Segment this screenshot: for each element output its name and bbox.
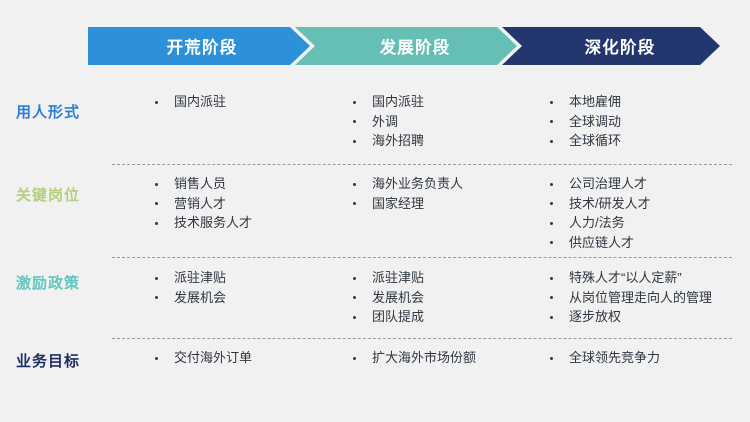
bullet-item: 逐步放权 <box>545 307 750 327</box>
cell-r0c2: 本地雇佣全球调动全球循环 <box>545 92 750 151</box>
bullet-item: 全球领先竞争力 <box>545 348 750 368</box>
bullet-item: 人力/法务 <box>545 213 750 233</box>
cell-r1c0: 销售人员营销人才技术服务人才 <box>150 174 345 233</box>
bullet-item: 全球循环 <box>545 131 750 151</box>
phase-arrow-1-label: 开荒阶段 <box>161 34 238 58</box>
matrix-row-business-goal: 业务目标 交付海外订单 扩大海外市场份额 全球领先竞争力 <box>0 348 750 378</box>
phase-arrow-3[interactable]: 深化阶段 <box>502 27 720 65</box>
bullet-item: 特殊人才“以人定薪” <box>545 268 750 288</box>
bullet-item: 本地雇佣 <box>545 92 750 112</box>
matrix-row-key-positions: 关键岗位 销售人员营销人才技术服务人才 海外业务负责人国家经理 公司治理人才技术… <box>0 174 750 252</box>
cell-r2c1: 派驻津贴发展机会团队提成 <box>348 268 538 327</box>
cell-r2c0: 派驻津贴发展机会 <box>150 268 345 307</box>
bullet-item: 从岗位管理走向人的管理 <box>545 288 750 308</box>
bullet-item: 公司治理人才 <box>545 174 750 194</box>
phase-arrow-1[interactable]: 开荒阶段 <box>88 27 310 65</box>
bullet-item: 扩大海外市场份额 <box>348 348 538 368</box>
bullet-item: 外调 <box>348 112 538 132</box>
bullet-item: 供应链人才 <box>545 233 750 253</box>
bullet-item: 技术服务人才 <box>150 213 345 233</box>
row-2-cells: 派驻津贴发展机会 派驻津贴发展机会团队提成 特殊人才“以人定薪”从岗位管理走向人… <box>0 268 750 330</box>
bullet-list-r1c2: 公司治理人才技术/研发人才人力/法务供应链人才 <box>545 174 750 252</box>
cell-r0c0: 国内派驻 <box>150 92 345 112</box>
bullet-item: 团队提成 <box>348 307 538 327</box>
cell-r2c2: 特殊人才“以人定薪”从岗位管理走向人的管理逐步放权 <box>545 268 750 327</box>
phase-arrow-3-label: 深化阶段 <box>567 34 656 58</box>
bullet-list-r2c0: 派驻津贴发展机会 <box>150 268 345 307</box>
phase-arrow-2-label: 发展阶段 <box>362 34 451 58</box>
row-divider-2 <box>112 338 732 339</box>
cell-r1c2: 公司治理人才技术/研发人才人力/法务供应链人才 <box>545 174 750 252</box>
bullet-list-r0c0: 国内派驻 <box>150 92 345 112</box>
bullet-list-r0c1: 国内派驻外调海外招聘 <box>348 92 538 151</box>
slide-canvas: 开荒阶段 发展阶段 深化阶段 用人形式 国内派驻 国内派驻外调海外招聘 本地雇佣… <box>0 0 750 422</box>
matrix-row-incentive-policy: 激励政策 派驻津贴发展机会 派驻津贴发展机会团队提成 特殊人才“以人定薪”从岗位… <box>0 268 750 330</box>
bullet-item: 派驻津贴 <box>150 268 345 288</box>
cell-r1c1: 海外业务负责人国家经理 <box>348 174 538 213</box>
cell-r3c0: 交付海外订单 <box>150 348 345 368</box>
bullet-item: 海外业务负责人 <box>348 174 538 194</box>
bullet-item: 国内派驻 <box>348 92 538 112</box>
cell-r3c1: 扩大海外市场份额 <box>348 348 538 368</box>
bullet-item: 营销人才 <box>150 194 345 214</box>
row-3-cells: 交付海外订单 扩大海外市场份额 全球领先竞争力 <box>0 348 750 378</box>
bullet-item: 海外招聘 <box>348 131 538 151</box>
cell-r3c2: 全球领先竞争力 <box>545 348 750 368</box>
bullet-item: 国内派驻 <box>150 92 345 112</box>
bullet-item: 派驻津贴 <box>348 268 538 288</box>
bullet-list-r0c2: 本地雇佣全球调动全球循环 <box>545 92 750 151</box>
row-divider-1 <box>112 257 732 258</box>
row-1-cells: 销售人员营销人才技术服务人才 海外业务负责人国家经理 公司治理人才技术/研发人才… <box>0 174 750 252</box>
bullet-list-r3c1: 扩大海外市场份额 <box>348 348 538 368</box>
bullet-item: 全球调动 <box>545 112 750 132</box>
bullet-item: 国家经理 <box>348 194 538 214</box>
phase-arrow-2[interactable]: 发展阶段 <box>295 27 517 65</box>
bullet-list-r2c1: 派驻津贴发展机会团队提成 <box>348 268 538 327</box>
bullet-item: 技术/研发人才 <box>545 194 750 214</box>
bullet-list-r1c0: 销售人员营销人才技术服务人才 <box>150 174 345 233</box>
bullet-list-r3c2: 全球领先竞争力 <box>545 348 750 368</box>
row-divider-0 <box>112 164 732 165</box>
bullet-list-r2c2: 特殊人才“以人定薪”从岗位管理走向人的管理逐步放权 <box>545 268 750 327</box>
cell-r0c1: 国内派驻外调海外招聘 <box>348 92 538 151</box>
bullet-item: 发展机会 <box>150 288 345 308</box>
bullet-item: 发展机会 <box>348 288 538 308</box>
matrix-row-employment-form: 用人形式 国内派驻 国内派驻外调海外招聘 本地雇佣全球调动全球循环 <box>0 92 750 154</box>
bullet-list-r3c0: 交付海外订单 <box>150 348 345 368</box>
bullet-item: 销售人员 <box>150 174 345 194</box>
bullet-item: 交付海外订单 <box>150 348 345 368</box>
phase-arrow-band: 开荒阶段 发展阶段 深化阶段 <box>88 27 720 65</box>
row-0-cells: 国内派驻 国内派驻外调海外招聘 本地雇佣全球调动全球循环 <box>0 92 750 154</box>
bullet-list-r1c1: 海外业务负责人国家经理 <box>348 174 538 213</box>
